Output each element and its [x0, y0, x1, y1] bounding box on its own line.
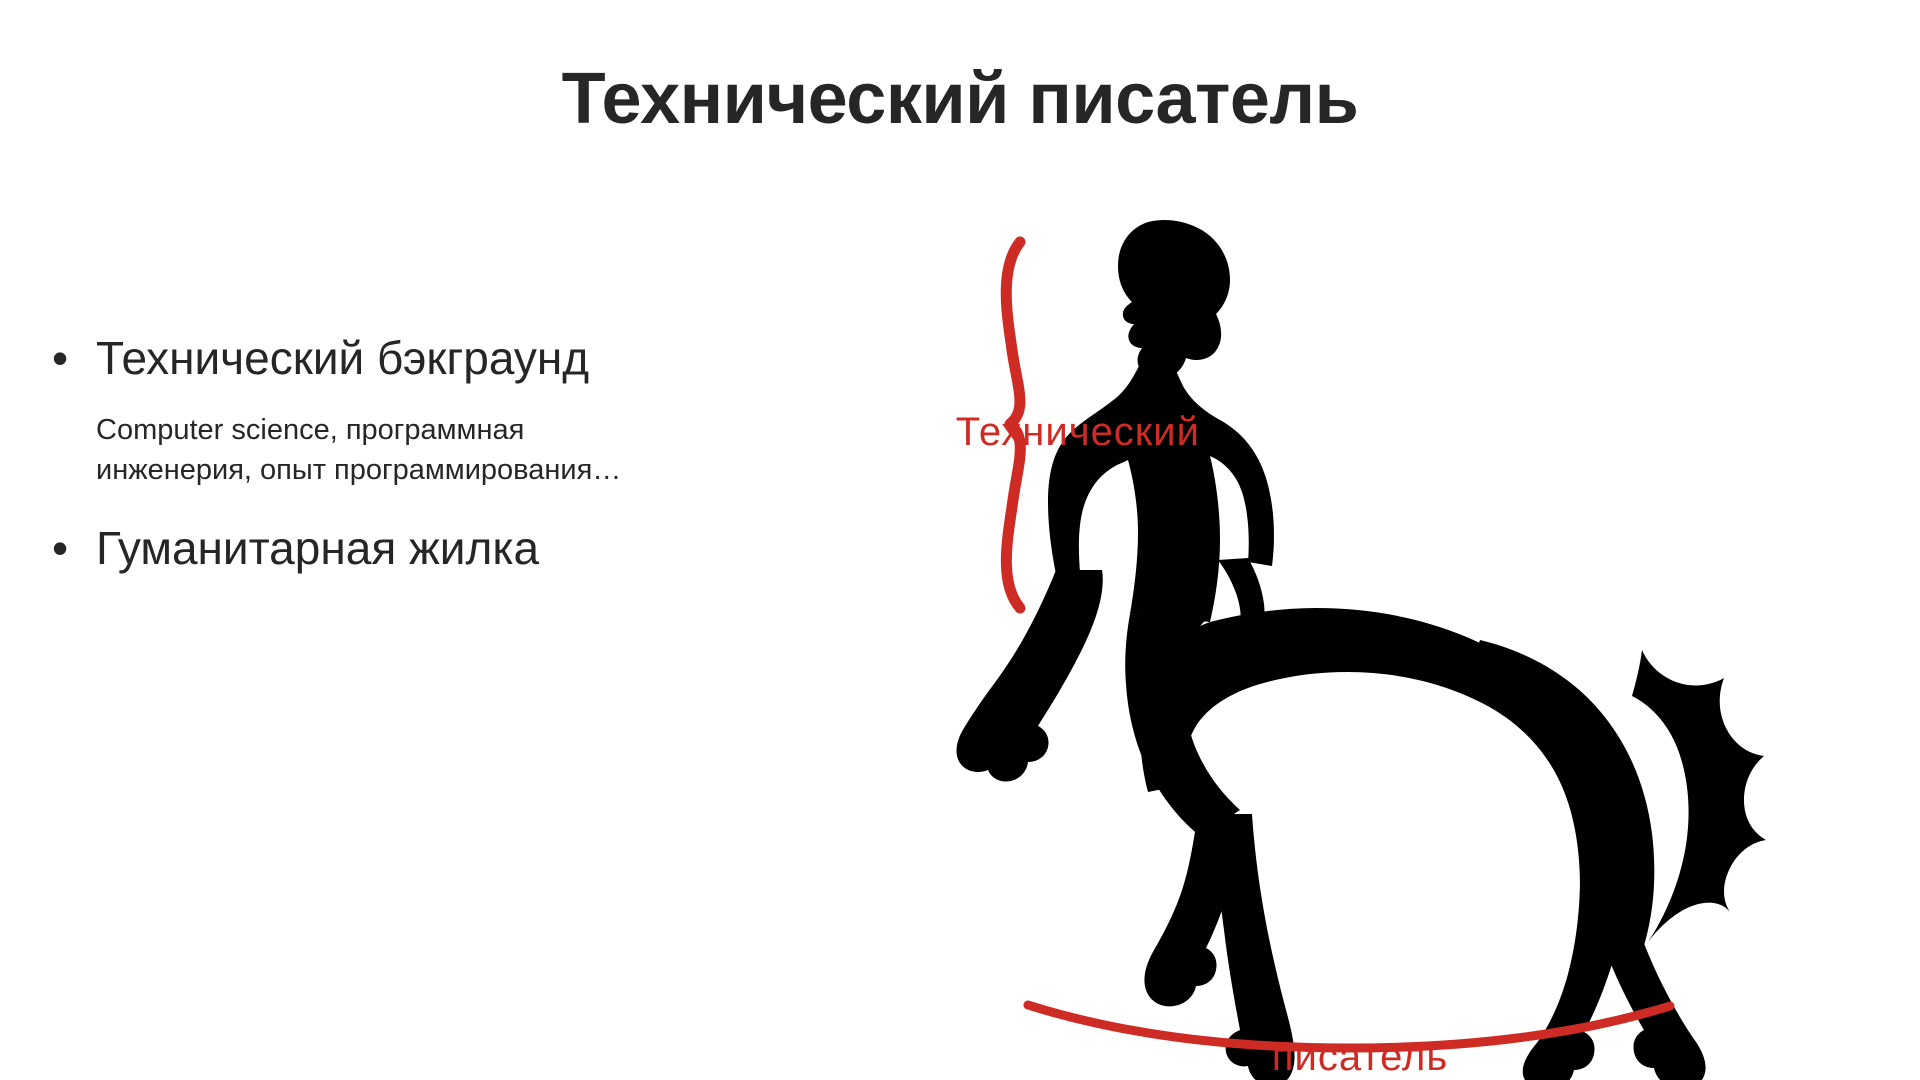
bullet-subtext-technical-background: Computer science, программная инженерия,…: [96, 410, 641, 490]
slide-canvas: Технический писатель • Технический бэкгр…: [0, 0, 1920, 1080]
centaur-illustration: Технический писатель: [880, 210, 1890, 1080]
bullet-marker-icon: •: [44, 520, 96, 578]
bullet-list: • Технический бэкграунд Computer science…: [44, 330, 744, 577]
page-title: Технический писатель: [0, 62, 1920, 138]
centaur-body: [957, 220, 1766, 1080]
label-writer: писатель: [1080, 1035, 1640, 1080]
label-technical: Технический: [880, 410, 1200, 455]
list-item: • Гуманитарная жилка: [44, 520, 744, 578]
bullet-label-technical-background: Технический бэкграунд: [96, 330, 744, 386]
centaur-silhouette-icon: [880, 210, 1890, 1080]
bullet-label-humanitarian-streak: Гуманитарная жилка: [96, 520, 744, 576]
bullet-marker-icon: •: [44, 330, 96, 388]
list-item: • Технический бэкграунд: [44, 330, 744, 388]
